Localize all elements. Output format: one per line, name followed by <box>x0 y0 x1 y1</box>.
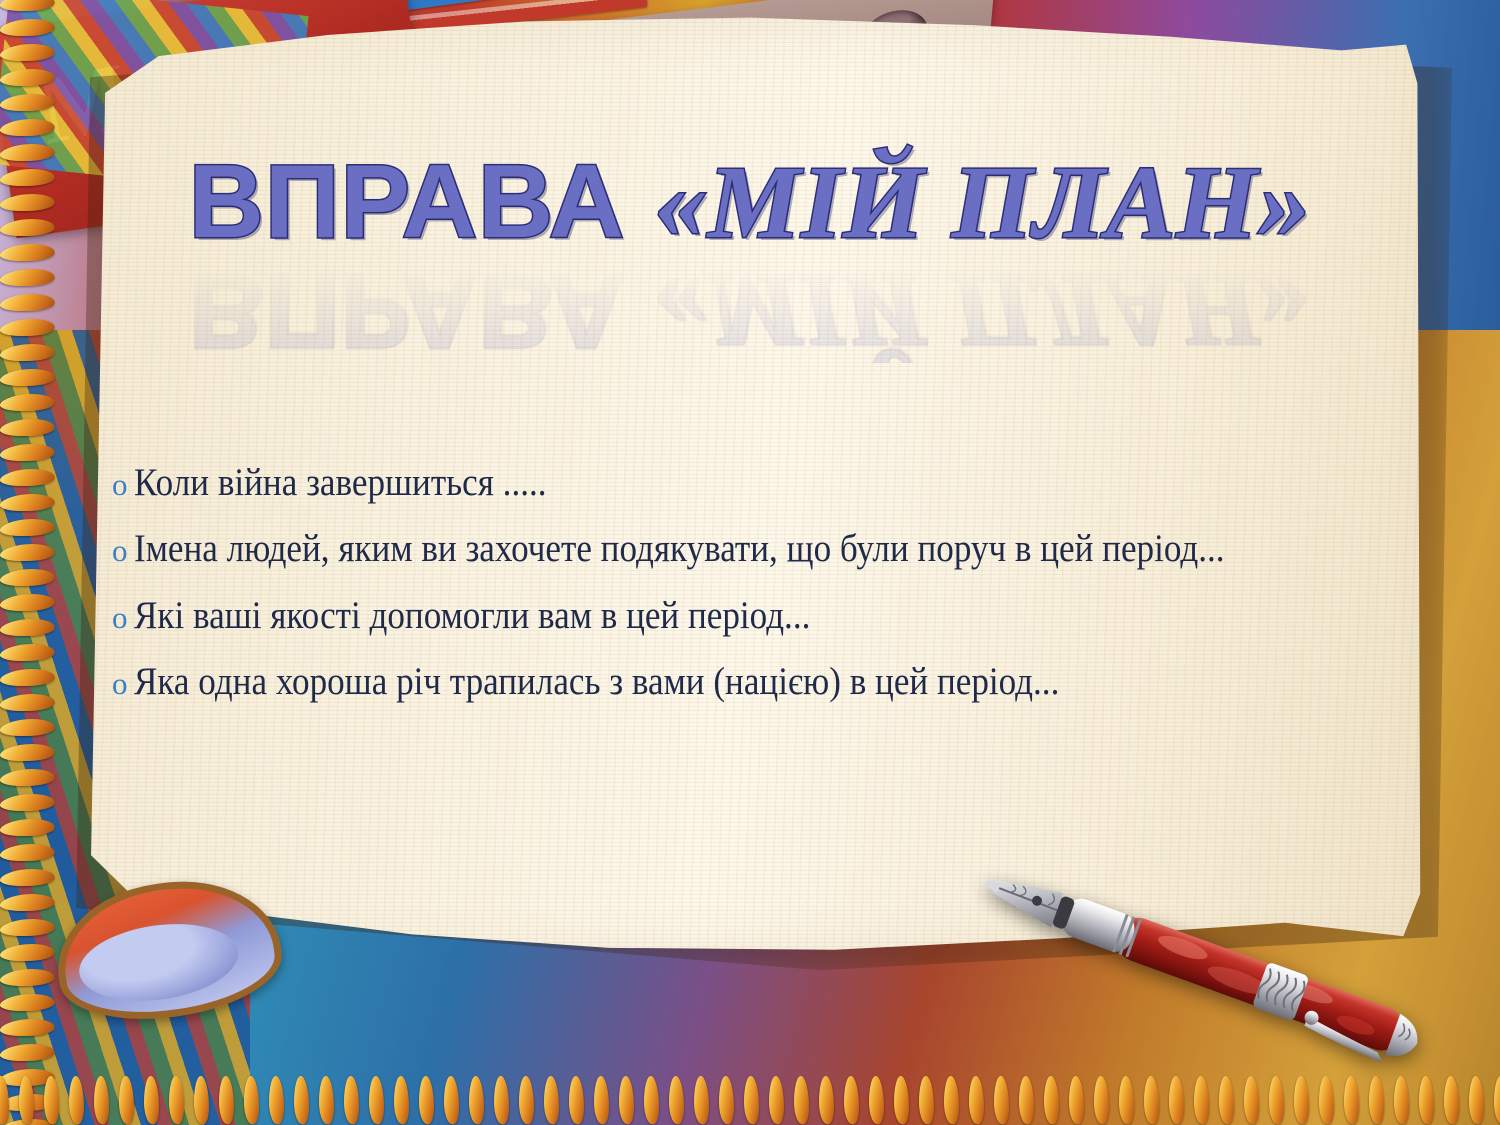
spiral-coil-link <box>869 1073 884 1125</box>
spiral-coil-link <box>1194 1073 1209 1125</box>
spiral-coil-link <box>1044 1073 1059 1125</box>
spiral-coil-left <box>0 0 58 1125</box>
list-item: o Коли війна завершиться ..... <box>112 462 1382 503</box>
spiral-coil-link <box>0 569 59 586</box>
spiral-coil-link <box>119 1073 134 1125</box>
bullet-text: Коли війна завершиться ..... <box>134 462 547 503</box>
spiral-coil-link <box>0 69 59 86</box>
spiral-coil-link <box>0 644 59 661</box>
bullet-text: Яка одна хороша річ трапилась з вами (на… <box>134 661 1059 702</box>
spiral-coil-link <box>894 1073 909 1125</box>
bullet-text: Імена людей, яким ви захочете подякувати… <box>134 528 1225 569</box>
spiral-coil-link <box>919 1073 934 1125</box>
spiral-coil-bottom <box>0 1073 1500 1125</box>
spiral-coil-link <box>644 1073 659 1125</box>
spiral-coil-link <box>0 819 59 836</box>
spiral-coil-link <box>0 144 59 161</box>
spiral-coil-link <box>0 294 59 311</box>
spiral-coil-link <box>0 869 59 886</box>
spiral-coil-link <box>1444 1073 1459 1125</box>
spiral-coil-link <box>269 1073 284 1125</box>
list-item: o Яка одна хороша річ трапилась з вами (… <box>112 661 1382 702</box>
spiral-coil-link <box>169 1073 184 1125</box>
spiral-coil-link <box>969 1073 984 1125</box>
spiral-coil-link <box>994 1073 1009 1125</box>
list-item: o Імена людей, яким ви захочете подякува… <box>112 528 1382 569</box>
spiral-coil-link <box>294 1073 309 1125</box>
spiral-coil-link <box>519 1073 534 1125</box>
spiral-coil-link <box>0 119 59 136</box>
spiral-coil-link <box>0 669 59 686</box>
spiral-coil-link <box>1269 1073 1284 1125</box>
spiral-coil-link <box>0 544 59 561</box>
spiral-coil-link <box>1244 1073 1259 1125</box>
spiral-coil-link <box>369 1073 384 1125</box>
spiral-coil-link <box>0 94 59 111</box>
spiral-coil-link <box>1144 1073 1159 1125</box>
spiral-coil-link <box>1094 1073 1109 1125</box>
spiral-coil-link <box>344 1073 359 1125</box>
spiral-coil-link <box>844 1073 859 1125</box>
spiral-coil-link <box>1494 1073 1500 1125</box>
spiral-coil-link <box>0 1019 59 1036</box>
spiral-coil-link <box>194 1073 209 1125</box>
spiral-coil-link <box>0 244 59 261</box>
spiral-coil-link <box>44 1073 59 1125</box>
spiral-coil-link <box>0 619 59 636</box>
spiral-coil-link <box>0 344 59 361</box>
spiral-coil-link <box>769 1073 784 1125</box>
spiral-coil-link <box>1069 1073 1084 1125</box>
list-item: o Які ваші якості допомогли вам в цей пе… <box>112 595 1382 636</box>
spiral-coil-link <box>0 769 59 786</box>
spiral-coil-link <box>0 594 59 611</box>
spiral-coil-link <box>694 1073 709 1125</box>
spiral-coil-link <box>1419 1073 1434 1125</box>
spiral-coil-link <box>0 944 59 961</box>
spiral-coil-link <box>0 519 59 536</box>
spiral-coil-link <box>0 744 59 761</box>
spiral-coil-link <box>0 794 59 811</box>
spiral-coil-link <box>719 1073 734 1125</box>
spiral-coil-link <box>0 719 59 736</box>
spiral-coil-link <box>319 1073 334 1125</box>
spiral-coil-link <box>1169 1073 1184 1125</box>
spiral-coil-link <box>494 1073 509 1125</box>
spiral-coil-link <box>0 694 59 711</box>
spiral-coil-link <box>469 1073 484 1125</box>
bullet-ring-icon: o <box>112 668 134 699</box>
spiral-coil-link <box>0 919 59 936</box>
spiral-coil-link <box>69 1073 84 1125</box>
spiral-coil-link <box>0 394 59 411</box>
spiral-coil-link <box>819 1073 834 1125</box>
spiral-coil-link <box>219 1073 234 1125</box>
spiral-coil-link <box>0 444 59 461</box>
spiral-coil-link <box>144 1073 159 1125</box>
spiral-coil-link <box>0 19 59 36</box>
spiral-coil-link <box>1394 1073 1409 1125</box>
spiral-coil-link <box>0 169 59 186</box>
spiral-coil-link <box>1119 1073 1134 1125</box>
spiral-coil-link <box>0 194 59 211</box>
spiral-coil-link <box>0 469 59 486</box>
spiral-coil-link <box>0 1044 59 1061</box>
spiral-coil-link <box>0 969 59 986</box>
spiral-coil-link <box>419 1073 434 1125</box>
bullet-ring-icon: o <box>112 469 134 500</box>
spiral-coil-link <box>544 1073 559 1125</box>
spiral-coil-link <box>0 994 59 1011</box>
spiral-coil-link <box>1219 1073 1234 1125</box>
spiral-coil-link <box>794 1073 809 1125</box>
spiral-coil-link <box>744 1073 759 1125</box>
spiral-coil-link <box>569 1073 584 1125</box>
bullet-text: Які ваші якості допомогли вам в цей пері… <box>134 595 810 636</box>
bullet-ring-icon: o <box>112 602 134 633</box>
spiral-coil-link <box>94 1073 109 1125</box>
spiral-coil-link <box>0 844 59 861</box>
spiral-coil-link <box>0 269 59 286</box>
spiral-coil-link <box>669 1073 684 1125</box>
spiral-coil-link <box>444 1073 459 1125</box>
spiral-coil-link <box>1369 1073 1384 1125</box>
spiral-coil-link <box>1019 1073 1034 1125</box>
spiral-coil-link <box>0 494 59 511</box>
spiral-coil-link <box>1294 1073 1309 1125</box>
spiral-coil-link <box>0 219 59 236</box>
slide-canvas: М З ВПРАВА «МІЙ ПЛАН» ВПРАВА «МІЙ ПЛАН» … <box>0 0 1500 1125</box>
spiral-coil-link <box>0 419 59 436</box>
spiral-coil-link <box>394 1073 409 1125</box>
bullet-ring-icon: o <box>112 535 134 566</box>
spiral-coil-link <box>0 0 59 11</box>
spiral-coil-link <box>594 1073 609 1125</box>
bullet-list: o Коли війна завершиться ..... o Імена л… <box>112 462 1382 727</box>
spiral-coil-link <box>0 44 59 61</box>
spiral-coil-link <box>1469 1073 1484 1125</box>
spiral-coil-link <box>0 369 59 386</box>
spiral-coil-link <box>0 1073 9 1125</box>
spiral-coil-link <box>944 1073 959 1125</box>
spiral-coil-link <box>19 1073 34 1125</box>
spiral-coil-link <box>0 894 59 911</box>
spiral-coil-link <box>619 1073 634 1125</box>
spiral-coil-link <box>244 1073 259 1125</box>
spiral-coil-link <box>1319 1073 1334 1125</box>
spiral-coil-link <box>1344 1073 1359 1125</box>
spiral-coil-link <box>0 319 59 336</box>
